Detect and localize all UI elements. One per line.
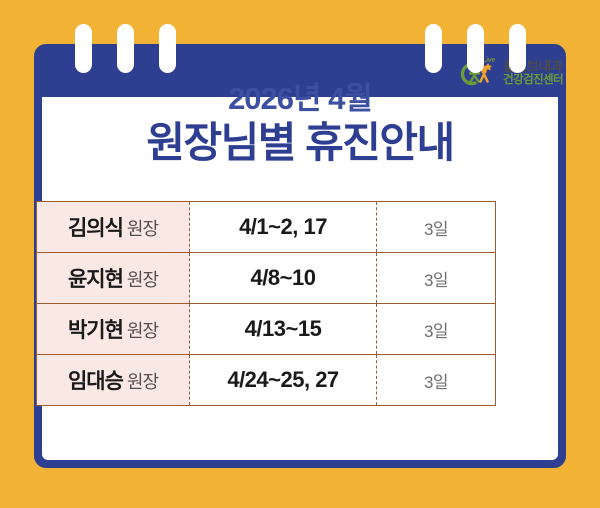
binder-rings-left [75,24,176,73]
doctor-cell: 윤지현원장 [37,253,190,304]
table-body: 김의식원장 4/1~2, 17 3일 윤지현원장 4/8~10 3일 박기현원장… [37,202,496,406]
binder-ring-icon [159,24,176,73]
holiday-day-count: 3일 [377,355,496,406]
holiday-day-count: 3일 [377,304,496,355]
doctor-name: 박기현 [68,319,123,342]
holiday-dates: 4/1~2, 17 [190,202,377,253]
holiday-dates: 4/24~25, 27 [190,355,377,406]
notice-month: 2026년 4월 [0,82,600,116]
binder-ring-icon [509,24,526,73]
doctor-name: 임대승 [68,370,123,393]
binder-ring-icon [75,24,92,73]
holiday-dates: 4/8~10 [190,253,377,304]
doctor-cell: 김의식원장 [37,202,190,253]
binder-rings-right [425,24,526,73]
doctor-role: 원장 [127,219,158,239]
doctor-cell: 임대승원장 [37,355,190,406]
page-title-block: 2026년 4월 원장님별 휴진안내 [0,82,600,166]
binder-ring-icon [425,24,442,73]
doctor-role: 원장 [127,372,158,392]
doctor-role: 원장 [127,321,158,341]
holiday-dates: 4/13~15 [190,304,377,355]
holiday-notice-poster: All-Live 올리브내과 건강검진센터 2026년 4월 원장님별 휴진안내… [0,0,600,508]
doctor-cell: 박기현원장 [37,304,190,355]
binder-ring-icon [117,24,134,73]
binder-ring-icon [467,24,484,73]
table-row: 윤지현원장 4/8~10 3일 [37,253,496,304]
table-row: 김의식원장 4/1~2, 17 3일 [37,202,496,253]
doctor-role: 원장 [127,270,158,290]
doctor-name: 김의식 [68,217,123,240]
doctor-name: 윤지현 [68,268,123,291]
holiday-day-count: 3일 [377,202,496,253]
holiday-schedule-table: 김의식원장 4/1~2, 17 3일 윤지현원장 4/8~10 3일 박기현원장… [36,201,496,406]
table-row: 임대승원장 4/24~25, 27 3일 [37,355,496,406]
holiday-day-count: 3일 [377,253,496,304]
page-title: 원장님별 휴진안내 [0,120,600,166]
table-row: 박기현원장 4/13~15 3일 [37,304,496,355]
